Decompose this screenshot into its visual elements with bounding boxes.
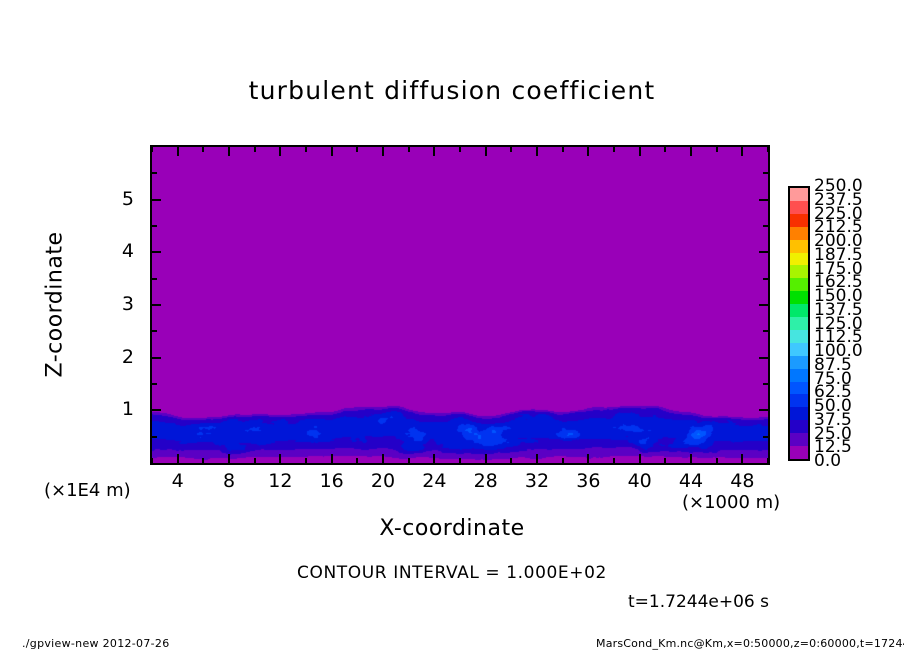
y-tick <box>152 357 161 359</box>
y-tick <box>759 409 768 411</box>
x-tick <box>664 147 666 152</box>
colorbar-band <box>790 382 808 395</box>
x-tick <box>510 458 512 463</box>
heatmap-canvas <box>152 147 768 463</box>
x-axis-unit-label: (×1000 m) <box>682 492 780 513</box>
colorbar <box>788 186 810 461</box>
y-tick <box>152 304 161 306</box>
x-tick-label: 48 <box>712 470 772 492</box>
y-tick-label: 2 <box>100 346 134 368</box>
colorbar-band <box>790 304 808 317</box>
x-tick <box>382 454 384 463</box>
contour-interval-note: CONTOUR INTERVAL = 1.000E+02 <box>0 563 904 583</box>
colorbar-tick-label: 0.0 <box>814 451 841 471</box>
colorbar-band <box>790 291 808 304</box>
y-tick-label: 1 <box>100 398 134 420</box>
colorbar-band <box>790 330 808 343</box>
x-tick <box>408 147 410 152</box>
x-tick <box>485 147 487 156</box>
x-tick <box>536 454 538 463</box>
colorbar-band <box>790 420 808 433</box>
y-tick-label: 3 <box>100 293 134 315</box>
x-tick <box>202 147 204 152</box>
y-tick <box>152 251 161 253</box>
colorbar-band <box>790 317 808 330</box>
x-tick <box>408 458 410 463</box>
colorbar-band <box>790 369 808 382</box>
x-tick <box>741 454 743 463</box>
y-tick <box>763 383 768 385</box>
x-tick <box>433 147 435 156</box>
figure-root: turbulent diffusion coefficient 48121620… <box>0 0 904 654</box>
x-tick <box>382 147 384 156</box>
y-tick <box>759 199 768 201</box>
colorbar-band <box>790 227 808 240</box>
x-tick <box>536 147 538 156</box>
y-tick <box>759 357 768 359</box>
x-tick <box>305 458 307 463</box>
x-tick <box>177 454 179 463</box>
y-axis-unit-label: (×1E4 m) <box>44 480 131 501</box>
y-tick <box>759 304 768 306</box>
y-tick <box>152 278 157 280</box>
x-tick <box>151 458 153 463</box>
x-tick <box>331 454 333 463</box>
colorbar-band <box>790 356 808 369</box>
plot-area <box>150 145 770 465</box>
colorbar-band <box>790 265 808 278</box>
y-tick <box>152 409 161 411</box>
x-tick <box>716 147 718 152</box>
x-tick <box>639 454 641 463</box>
colorbar-band <box>790 433 808 446</box>
x-tick <box>613 458 615 463</box>
x-tick <box>356 458 358 463</box>
x-tick <box>510 147 512 152</box>
colorbar-band <box>790 201 808 214</box>
chart-title: turbulent diffusion coefficient <box>0 76 904 105</box>
x-tick <box>254 458 256 463</box>
y-tick <box>152 172 157 174</box>
x-tick <box>690 454 692 463</box>
footer-command: ./gpview-new 2012-07-26 <box>22 637 170 650</box>
y-tick-label: 5 <box>100 188 134 210</box>
y-tick <box>763 436 768 438</box>
y-tick <box>763 172 768 174</box>
x-tick <box>741 147 743 156</box>
colorbar-band <box>790 407 808 420</box>
x-tick <box>587 147 589 156</box>
x-tick <box>228 147 230 156</box>
y-tick <box>763 330 768 332</box>
colorbar-band <box>790 253 808 266</box>
x-tick <box>562 147 564 152</box>
footer-datasource: MarsCond_Km.nc@Km,x=0:50000,z=0:60000,t=… <box>596 637 904 650</box>
x-tick <box>228 454 230 463</box>
x-tick <box>485 454 487 463</box>
x-tick <box>716 458 718 463</box>
x-tick <box>151 147 153 152</box>
y-tick <box>759 251 768 253</box>
x-tick <box>767 147 769 152</box>
x-tick <box>459 147 461 152</box>
x-tick <box>279 454 281 463</box>
y-tick <box>763 278 768 280</box>
y-axis-title: Z-coordinate <box>43 205 68 405</box>
y-tick <box>152 330 157 332</box>
y-tick <box>152 199 161 201</box>
x-tick <box>613 147 615 152</box>
x-tick <box>562 458 564 463</box>
colorbar-band <box>790 446 808 459</box>
x-tick <box>664 458 666 463</box>
y-tick <box>763 225 768 227</box>
x-tick <box>587 454 589 463</box>
x-tick <box>767 458 769 463</box>
x-tick <box>433 454 435 463</box>
x-tick <box>459 458 461 463</box>
colorbar-band <box>790 343 808 356</box>
x-tick <box>202 458 204 463</box>
y-tick <box>152 383 157 385</box>
x-tick <box>356 147 358 152</box>
colorbar-band <box>790 394 808 407</box>
x-tick <box>331 147 333 156</box>
y-tick-label: 4 <box>100 240 134 262</box>
colorbar-band <box>790 214 808 227</box>
x-axis-title: X-coordinate <box>0 516 904 541</box>
x-tick <box>279 147 281 156</box>
y-tick <box>152 436 157 438</box>
time-annotation: t=1.7244e+06 s <box>628 592 769 612</box>
colorbar-band <box>790 188 808 201</box>
y-tick <box>152 225 157 227</box>
x-tick <box>254 147 256 152</box>
x-tick <box>305 147 307 152</box>
colorbar-band <box>790 278 808 291</box>
x-tick <box>690 147 692 156</box>
colorbar-band <box>790 240 808 253</box>
x-tick <box>177 147 179 156</box>
x-tick <box>639 147 641 156</box>
